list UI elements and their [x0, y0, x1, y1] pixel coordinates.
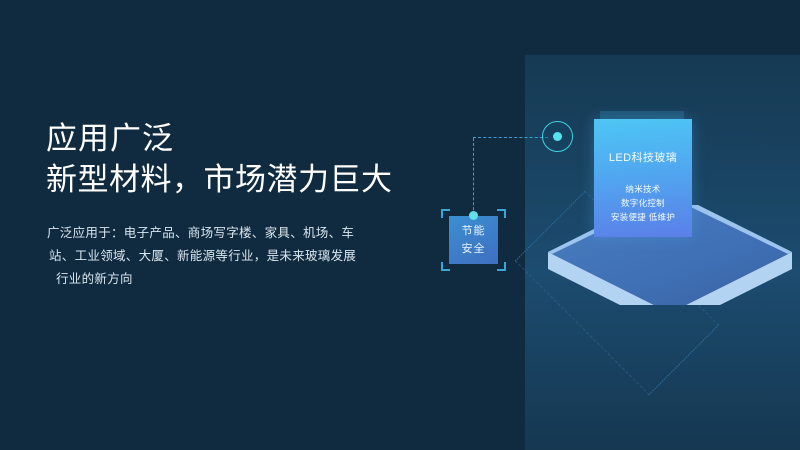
bracket-bottom-right-icon: [497, 262, 506, 271]
body-paragraph: 广泛应用于：电子产品、商场写字楼、家具、机场、车 站、工业领域、大厦、新能源等行…: [47, 222, 382, 291]
badge-connector-dot-icon: [469, 211, 478, 220]
connector-line-vertical: [473, 138, 474, 220]
feature-item: 安装便捷 低维护: [594, 210, 692, 224]
bracket-top-right-icon: [497, 209, 506, 218]
body-line-2: 站、工业领域、大厦、新能源等行业，是未来玻璃发展: [47, 245, 382, 268]
led-glass-panel-title: LED科技玻璃: [594, 149, 692, 165]
badge-line-1: 节能: [449, 222, 498, 240]
body-line-1: 广泛应用于：电子产品、商场写字楼、家具、机场、车: [47, 222, 382, 245]
badge-line-2: 安全: [449, 240, 498, 258]
connector-line-horizontal: [473, 137, 548, 138]
feature-badge-label: 节能 安全: [449, 222, 498, 258]
slide-canvas: 应用广泛 新型材料，市场潜力巨大 广泛应用于：电子产品、商场写字楼、家具、机场、…: [0, 0, 800, 450]
feature-item: 数字化控制: [594, 196, 692, 210]
headline-line-1: 应用广泛: [46, 118, 393, 159]
headline-line-2: 新型材料，市场潜力巨大: [46, 159, 393, 200]
page-title: 应用广泛 新型材料，市场潜力巨大: [46, 118, 393, 200]
led-glass-feature-list: 纳米技术 数字化控制 安装便捷 低维护: [594, 182, 692, 224]
feature-item: 纳米技术: [594, 182, 692, 196]
node-dot-icon: [553, 132, 562, 141]
body-line-3: 行业的新方向: [47, 268, 382, 291]
